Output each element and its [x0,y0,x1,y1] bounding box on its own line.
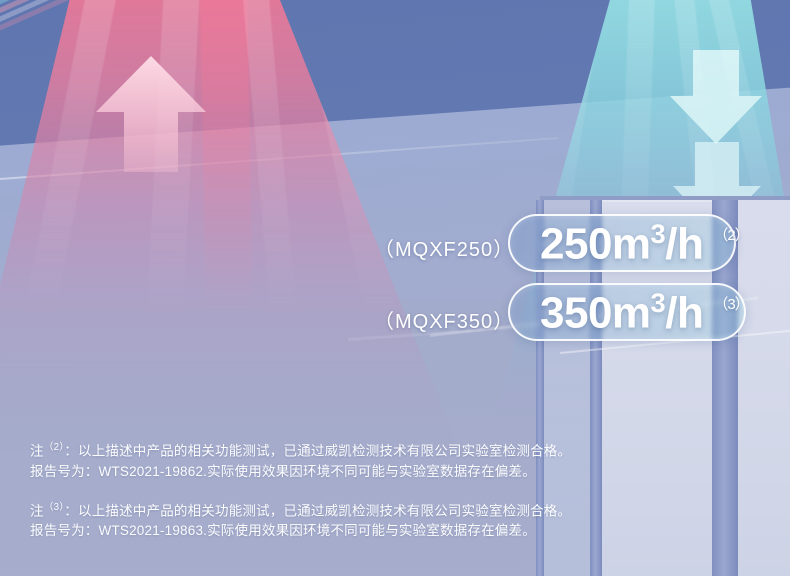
airflow-number: 250 [540,219,612,268]
arrow-up-icon [92,54,210,174]
window-sill-highlight [602,200,712,202]
airflow-unit-exponent: 3 [651,287,666,318]
footnotes-section: 注（2）：以上描述中产品的相关功能测试，已通过威凯检测技术有限公司实验室检测合格… [30,438,630,557]
footnote-line-1: 注（2）：以上描述中产品的相关功能测试，已通过威凯检测技术有限公司实验室检测合格… [30,438,630,462]
window-glass-panel [738,200,790,576]
banner-canvas: （MQXF250） 250m3/h （2） （MQXF350） 350m3/h … [0,0,790,576]
footnote-prefix: 注 [30,444,44,459]
airflow-value-350: 350m3/h [540,289,703,336]
airflow-unit: m [612,288,651,337]
footnote-line-1: 注（3）：以上描述中产品的相关功能测试，已通过威凯检测技术有限公司实验室检测合格… [30,498,630,522]
footnote-marker: （2） [44,442,65,453]
footnote-block-3: 注（3）：以上描述中产品的相关功能测试，已通过威凯检测技术有限公司实验室检测合格… [30,498,630,542]
airflow-unit-tail: /h [665,288,703,337]
footnote-marker: （3） [44,502,65,513]
airflow-unit: m [612,219,651,268]
airflow-pill-350[interactable]: 350m3/h （3） [508,283,746,341]
footnote-line-2: 报告号为：WTS2021-19863.实际使用效果因环境不同可能与实验室数据存在… [30,521,630,541]
footnote-line-2: 报告号为：WTS2021-19862.实际使用效果因环境不同可能与实验室数据存在… [30,462,630,482]
arrow-down-icon [668,48,764,146]
footnote-text: ：以上描述中产品的相关功能测试，已通过威凯检测技术有限公司实验室检测合格。 [64,444,571,459]
airflow-value-250: 250m3/h [540,220,703,267]
footnote-block-2: 注（2）：以上描述中产品的相关功能测试，已通过威凯检测技术有限公司实验室检测合格… [30,438,630,482]
footnote-marker-250: （2） [713,224,748,245]
footnote-text: ：以上描述中产品的相关功能测试，已通过威凯检测技术有限公司实验室检测合格。 [64,503,571,518]
footnote-prefix: 注 [30,503,44,518]
airflow-number: 350 [540,288,612,337]
model-label-250: （MQXF250） [374,233,514,262]
model-label-350: （MQXF350） [374,305,514,334]
airflow-unit-tail: /h [665,219,703,268]
footnote-marker-350: （3） [713,293,748,314]
airflow-unit-exponent: 3 [651,218,666,249]
airflow-pill-250[interactable]: 250m3/h （2） [508,214,736,272]
